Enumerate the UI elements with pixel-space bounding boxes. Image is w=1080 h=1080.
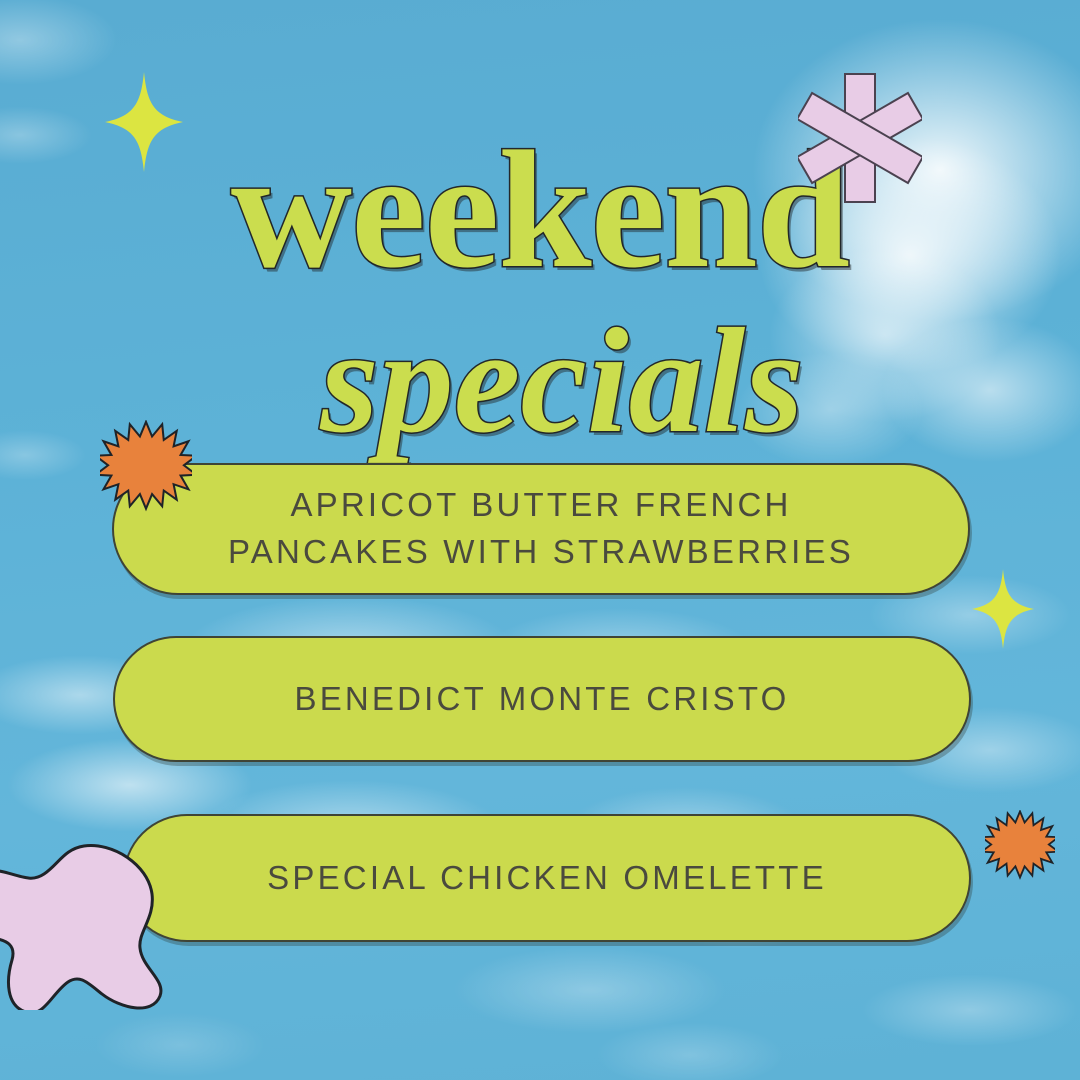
menu-item-card[interactable]: APRICOT BUTTER FRENCH PANCAKES WITH STRA… (112, 463, 970, 595)
poster-canvas: weekend specials APRICOT BUTTER FRENCH P… (0, 0, 1080, 1080)
menu-item-label: APRICOT BUTTER FRENCH PANCAKES WITH STRA… (174, 482, 908, 576)
menu-item-label: SPECIAL CHICKEN OMELETTE (213, 855, 881, 902)
sparkle-four-point-icon (972, 568, 1034, 650)
menu-item-card[interactable]: BENEDICT MONTE CRISTO (113, 636, 971, 762)
menu-item-card[interactable]: SPECIAL CHICKEN OMELETTE (123, 814, 971, 942)
menu-item-label: BENEDICT MONTE CRISTO (240, 676, 843, 723)
blob-four-point-icon (0, 840, 184, 1010)
starburst-orange-icon (100, 420, 192, 512)
starburst-orange-icon (985, 810, 1055, 880)
sparkle-four-point-icon (105, 72, 183, 172)
asterisk-six-arm-icon (798, 72, 922, 204)
